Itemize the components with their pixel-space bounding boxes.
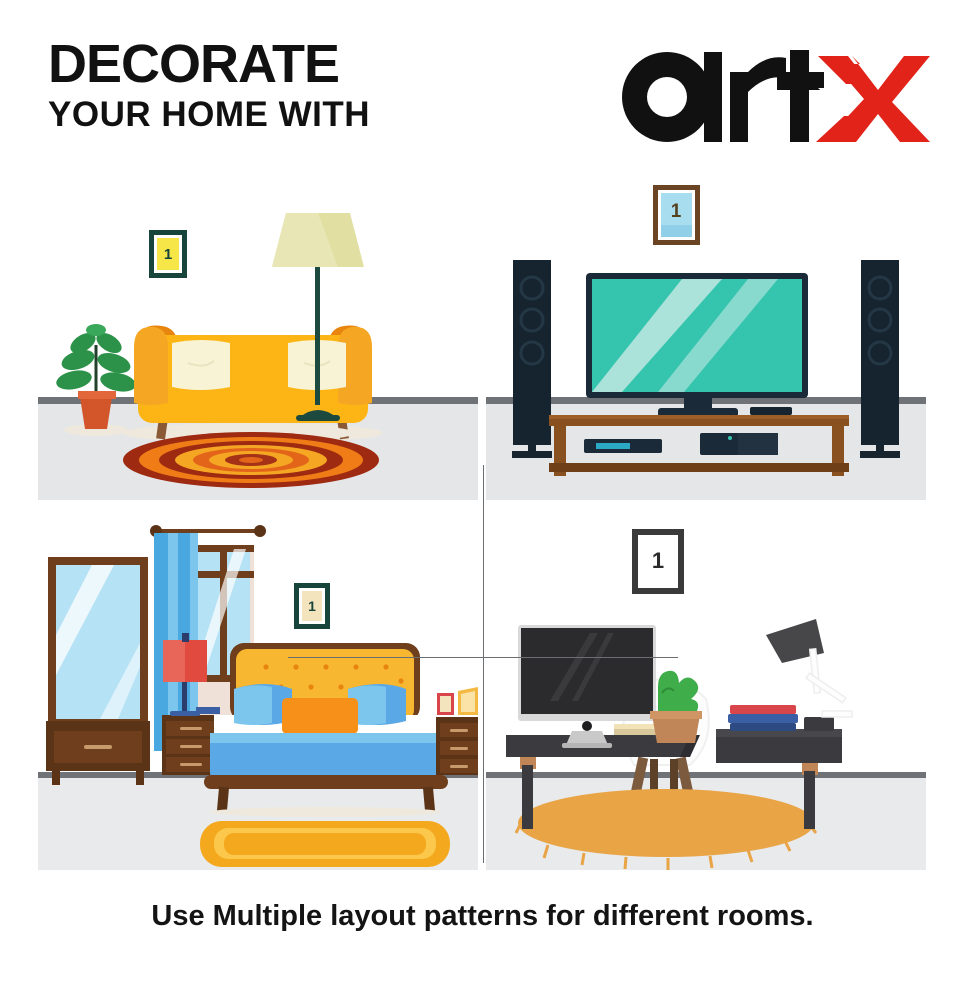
svg-text:1: 1 <box>652 548 664 573</box>
poster-root: DECORATE YOUR HOME WITH <box>0 0 965 1000</box>
logo-letter-x-icon <box>816 56 930 142</box>
wall-frame-tv-room[interactable]: 1 <box>653 185 700 245</box>
header: DECORATE YOUR HOME WITH <box>0 0 965 170</box>
caption: Use Multiple layout patterns for differe… <box>0 900 965 933</box>
divider-horizontal <box>288 657 678 658</box>
headline-line2: YOUR HOME WITH <box>48 94 508 136</box>
room-home-office[interactable]: 1 <box>486 515 926 870</box>
divider-vertical <box>483 465 484 863</box>
room-bedroom[interactable]: 1 <box>38 515 478 870</box>
room-tv-room[interactable]: 1 <box>486 175 926 500</box>
standing-mirror-cabinet-icon <box>46 557 150 785</box>
wall-frame-living-room[interactable]: 1 <box>149 230 187 278</box>
sofa-icon <box>123 326 383 444</box>
caption-text: Use Multiple layout patterns for differe… <box>151 900 813 933</box>
oval-rug-icon <box>123 432 379 488</box>
logo-letter-r-icon <box>730 57 786 142</box>
svg-text:1: 1 <box>308 598 316 614</box>
flat-tv-icon[interactable] <box>586 273 808 417</box>
tower-speaker-right-icon <box>860 260 900 458</box>
wall-frame-home-office[interactable]: 1 <box>632 529 684 594</box>
room-grid: 1 <box>0 160 965 890</box>
nightstand-right-icon <box>436 717 478 775</box>
svg-text:1: 1 <box>671 201 682 222</box>
room-living-room[interactable]: 1 <box>38 175 478 500</box>
logo-letter-a-icon <box>622 52 722 142</box>
tower-speaker-left-icon <box>512 260 552 458</box>
headline-line1: DECORATE <box>48 36 508 92</box>
wall-frame-bedroom[interactable]: 1 <box>294 583 330 629</box>
brand-logo <box>612 42 932 142</box>
headline-block: DECORATE YOUR HOME WITH <box>48 36 508 136</box>
rectangular-rug-icon <box>200 821 450 867</box>
svg-text:1: 1 <box>164 246 172 263</box>
